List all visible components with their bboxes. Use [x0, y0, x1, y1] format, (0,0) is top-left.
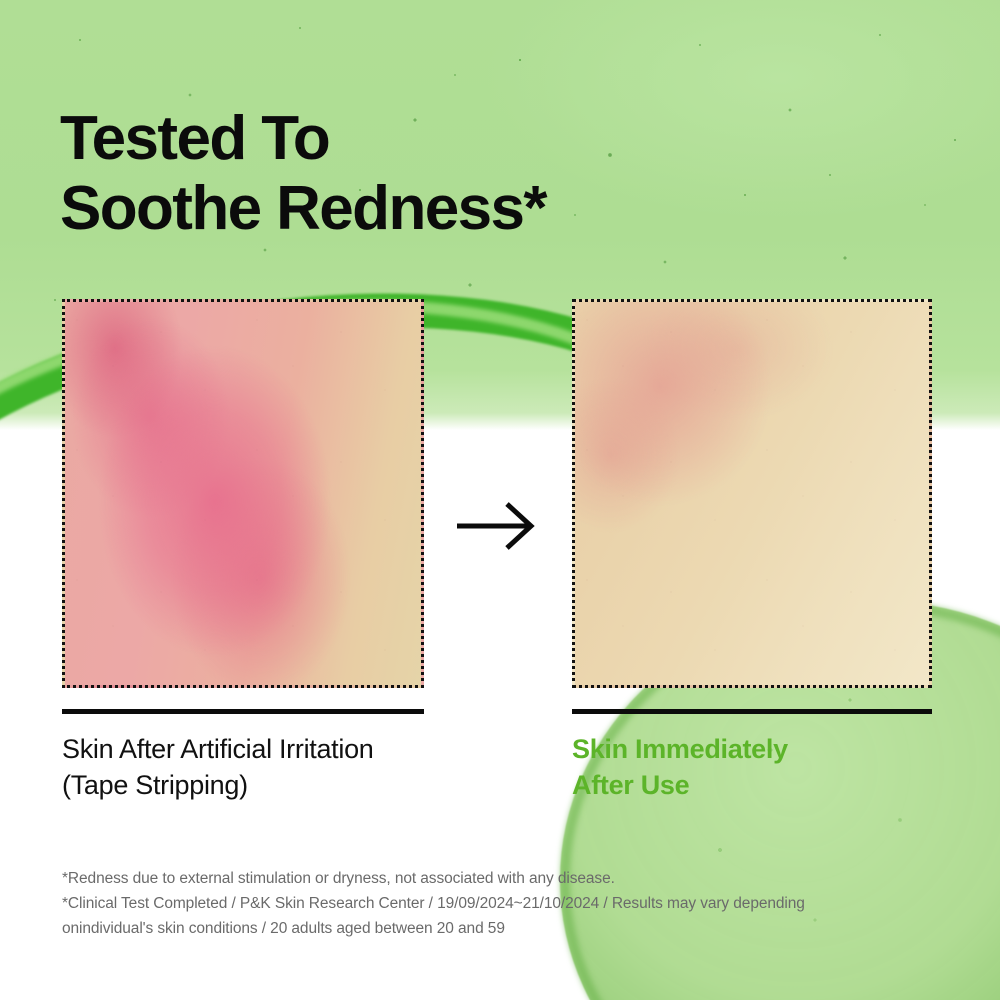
after-caption: Skin Immediately After Use — [572, 731, 972, 803]
page-title: Tested To Soothe Redness* — [60, 104, 820, 244]
disclaimer-line-2: *Clinical Test Completed / P&K Skin Rese… — [62, 891, 942, 916]
promo-graphic: Tested To Soothe Redness* Skin After Art… — [0, 0, 1000, 1000]
before-skin-photo — [62, 299, 424, 688]
gel-blob-speckles — [600, 640, 1000, 1000]
arrow-right-icon — [455, 500, 539, 552]
after-caption-line-2: After Use — [572, 767, 972, 803]
after-caption-rule — [572, 709, 932, 714]
after-caption-line-1: Skin Immediately — [572, 734, 788, 764]
headline-line-2: Soothe Redness* — [60, 174, 820, 244]
before-caption-line-1: Skin After Artificial Irritation — [62, 734, 374, 764]
skin-grain-texture — [65, 302, 421, 685]
before-caption-line-2: (Tape Stripping) — [62, 767, 492, 803]
disclaimer-line-3: onindividual's skin conditions / 20 adul… — [62, 916, 942, 941]
before-caption: Skin After Artificial Irritation (Tape S… — [62, 731, 492, 803]
skin-grain-texture — [575, 302, 929, 685]
disclaimer-line-1: *Redness due to external stimulation or … — [62, 866, 942, 891]
disclaimer: *Redness due to external stimulation or … — [62, 866, 942, 941]
after-skin-photo — [572, 299, 932, 688]
headline-line-1: Tested To — [60, 104, 329, 173]
before-caption-rule — [62, 709, 424, 714]
